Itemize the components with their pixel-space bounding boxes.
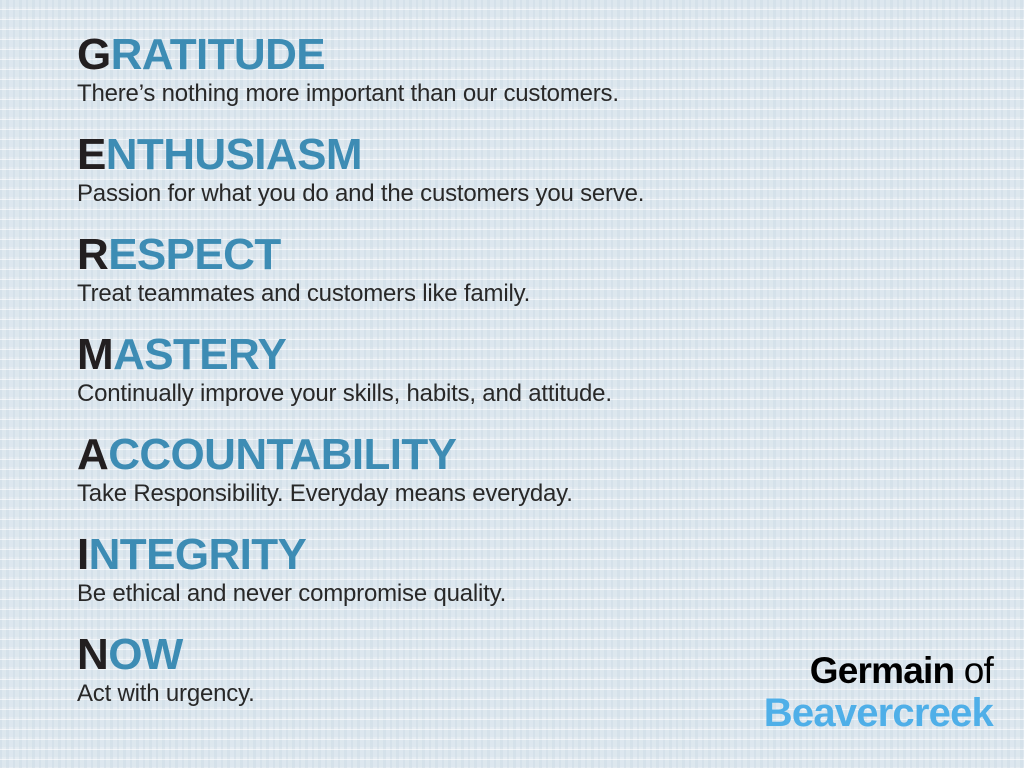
value-initial-letter: I (77, 530, 89, 579)
value-heading-remainder: ESPECT (108, 230, 280, 279)
logo-primary-line: Germain of (764, 650, 993, 691)
value-heading-mastery: MASTERY (77, 332, 1024, 378)
value-description-enthusiasm: Passion for what you do and the customer… (77, 179, 1024, 209)
value-heading-integrity: INTEGRITY (77, 532, 1024, 578)
value-block-mastery: MASTERY Continually improve your skills,… (77, 332, 1024, 432)
value-block-enthusiasm: ENTHUSIASM Passion for what you do and t… (77, 132, 1024, 232)
value-heading-remainder: RATITUDE (111, 30, 325, 79)
value-heading-enthusiasm: ENTHUSIASM (77, 132, 1024, 178)
value-heading-remainder: NTHUSIASM (106, 130, 362, 179)
value-heading-remainder: CCOUNTABILITY (108, 430, 456, 479)
value-block-gratitude: GRATITUDE There’s nothing more important… (77, 32, 1024, 132)
value-heading-remainder: ASTERY (113, 330, 286, 379)
value-description-gratitude: There’s nothing more important than our … (77, 79, 1024, 109)
value-description-integrity: Be ethical and never compromise quality. (77, 579, 1024, 609)
values-poster: GRATITUDE There’s nothing more important… (0, 0, 1024, 768)
value-heading-gratitude: GRATITUDE (77, 32, 1024, 78)
value-initial-letter: G (77, 30, 111, 79)
value-description-accountability: Take Responsibility. Everyday means ever… (77, 479, 1024, 509)
value-heading-respect: RESPECT (77, 232, 1024, 278)
value-initial-letter: N (77, 630, 108, 679)
value-block-accountability: ACCOUNTABILITY Take Responsibility. Ever… (77, 432, 1024, 532)
value-description-mastery: Continually improve your skills, habits,… (77, 379, 1024, 409)
value-initial-letter: E (77, 130, 106, 179)
value-initial-letter: R (77, 230, 108, 279)
value-description-respect: Treat teammates and customers like famil… (77, 279, 1024, 309)
logo-location-name: Beavercreek (764, 691, 993, 735)
logo-connector-word: of (954, 650, 993, 691)
value-heading-remainder: NTEGRITY (89, 530, 307, 579)
value-initial-letter: A (77, 430, 108, 479)
logo-brand-name: Germain (810, 650, 955, 691)
value-initial-letter: M (77, 330, 113, 379)
value-heading-accountability: ACCOUNTABILITY (77, 432, 1024, 478)
value-block-integrity: INTEGRITY Be ethical and never compromis… (77, 532, 1024, 632)
value-block-respect: RESPECT Treat teammates and customers li… (77, 232, 1024, 332)
dealership-logo: Germain of Beavercreek (764, 650, 993, 735)
value-heading-remainder: OW (108, 630, 183, 679)
